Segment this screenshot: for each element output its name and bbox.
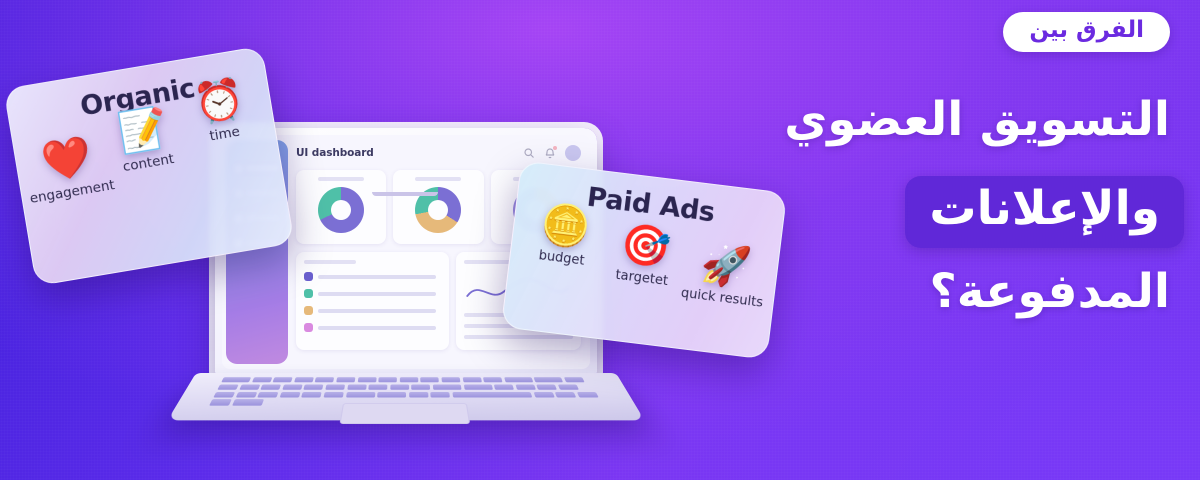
donut-card [296,170,386,244]
poster-canvas: UI dashboard [0,0,1200,480]
donut-chart-1 [318,187,364,233]
headline-line-1: التسويق العضوي [740,92,1170,147]
swatch-icon [304,272,313,281]
list-item[interactable] [304,306,441,315]
page-title: UI dashboard [296,147,374,159]
swatch-icon [304,323,313,332]
trackpad[interactable] [339,403,470,424]
card-title-placeholder [318,177,364,181]
list-item[interactable] [304,272,441,281]
paid-item-budget: 🪙 budget [520,201,608,270]
heart-icon: ❤️ [39,136,95,184]
donut-card [393,170,483,244]
organic-card: Organic ❤️ engagement 📝 content ⏰ time [3,46,294,286]
text-placeholder-line [464,335,573,339]
list-item-label [318,309,436,313]
notification-badge [553,146,557,150]
target-dart-icon: 🎯 [619,223,673,269]
list-item-label [318,292,436,296]
list-item[interactable] [304,289,441,298]
paid-item-target: 🎯 targetet [601,221,689,290]
panel-title-placeholder [304,260,356,264]
coins-icon: 🪙 [538,203,592,249]
organic-item-content: 📝 content [101,104,189,177]
list-panel [296,252,449,350]
organic-item-label: time [208,124,241,145]
swatch-icon [304,306,313,315]
laptop-keyboard-base [167,373,644,420]
bell-icon[interactable] [544,147,556,159]
organic-item-time: ⏰ time [177,75,265,148]
memo-pencil-icon: 📝 [115,107,171,155]
paid-item-label: budget [538,248,586,269]
list-item-label [318,275,436,279]
dashboard-topbar: UI dashboard [296,144,581,162]
swatch-icon [304,289,313,298]
clock-icon: ⏰ [191,78,247,126]
eyebrow-badge: الفرق بين [1003,12,1170,52]
laptop-front-lip [372,192,438,196]
headline-block: الفرق بين التسويق العضوي والإعلانات المد… [740,0,1170,480]
organic-item-engagement: ❤️ engagement [24,133,112,206]
keyboard-keys [209,377,602,405]
list-item-label [318,326,436,330]
search-icon[interactable] [523,147,535,159]
headline-line-3: المدفوعة؟ [740,264,1170,319]
list-item[interactable] [304,323,441,332]
card-title-placeholder [415,177,461,181]
avatar[interactable] [565,145,581,161]
headline-line-2-highlight: والإعلانات [905,176,1184,248]
